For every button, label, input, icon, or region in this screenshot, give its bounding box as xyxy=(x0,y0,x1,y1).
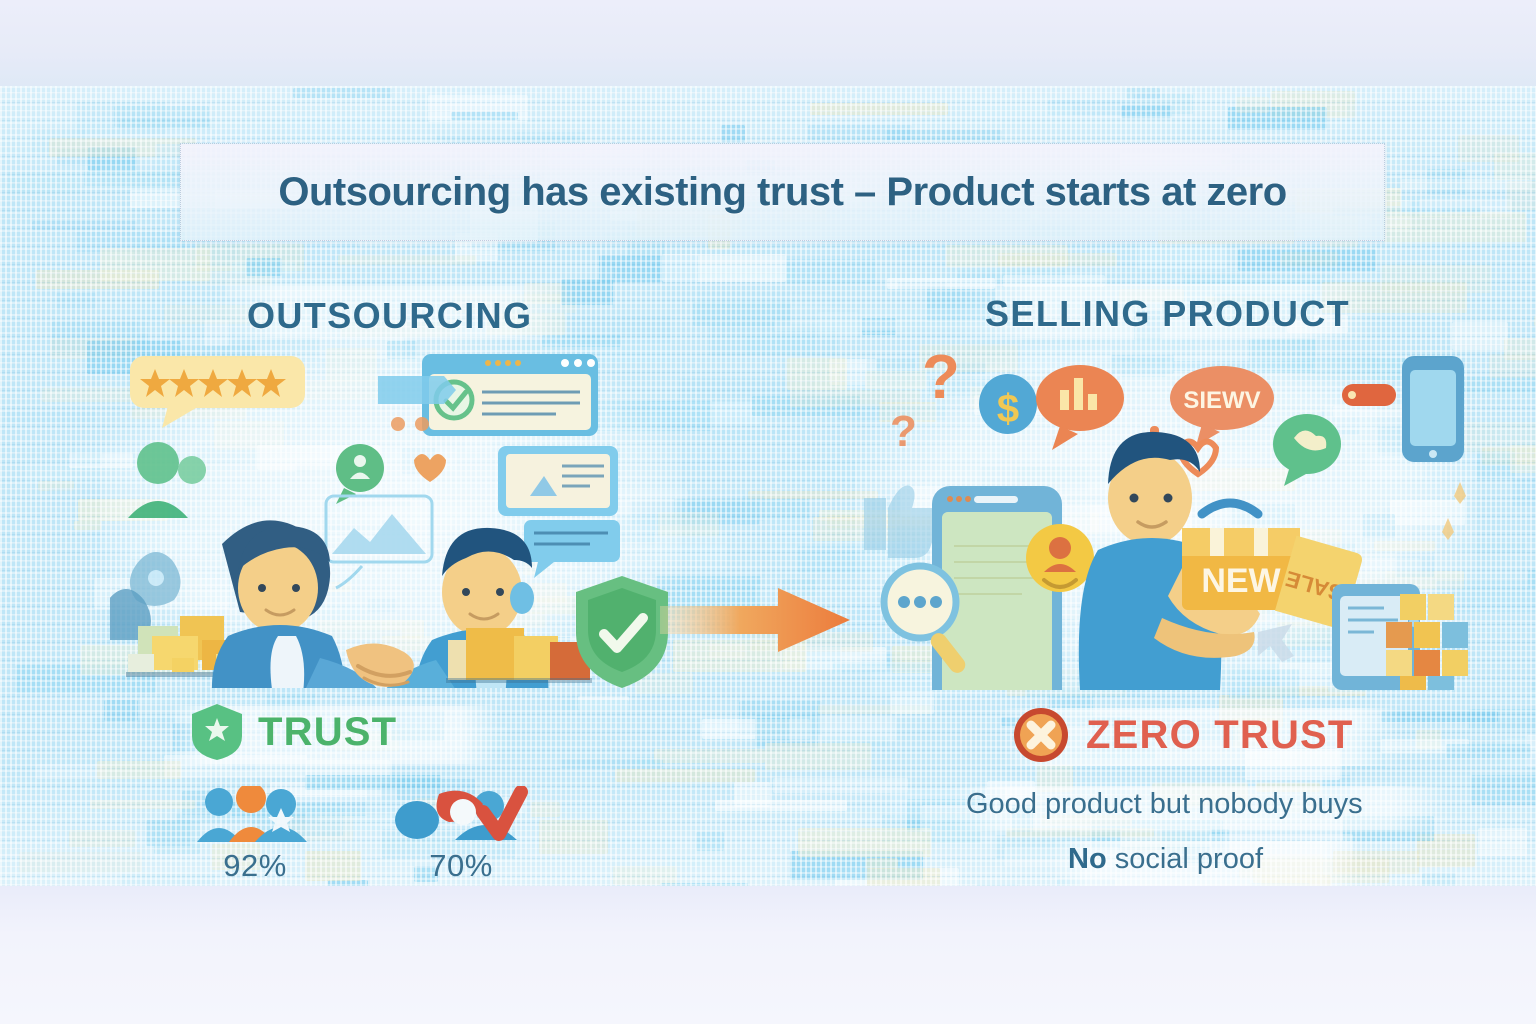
stat-item: 70% xyxy=(391,786,531,884)
gift-boxes-right xyxy=(446,628,592,683)
no-social-proof-text: No social proof xyxy=(1068,843,1263,876)
trust-label: TRUST xyxy=(258,710,397,755)
stat-value: 92% xyxy=(185,848,325,884)
chart-speech-bubble xyxy=(1036,365,1124,450)
column-header-outsourcing: OUTSOURCING xyxy=(247,295,532,337)
sparkle-icons xyxy=(1442,482,1466,540)
trust-block: TRUST xyxy=(190,702,397,762)
svg-text:?: ? xyxy=(890,407,917,456)
chart-bubble xyxy=(326,496,432,588)
question-mark-icons: ? ? xyxy=(890,346,960,456)
review-bubble-label: SIEWV xyxy=(1183,387,1260,414)
bottom-margin-band xyxy=(0,886,1536,1024)
page-title: Outsourcing has existing trust – Product… xyxy=(278,170,1286,215)
no-social-proof-rest: social proof xyxy=(1107,843,1263,875)
stat-value: 70% xyxy=(391,848,531,884)
zero-trust-block: ZERO TRUST xyxy=(1012,706,1354,764)
x-circle-icon xyxy=(1012,706,1070,764)
zero-trust-label: ZERO TRUST xyxy=(1086,713,1354,758)
shield-check-icon xyxy=(190,702,244,762)
title-banner: Outsourcing has existing trust – Product… xyxy=(180,143,1385,241)
people-group-icon xyxy=(185,786,325,844)
column-header-selling-product: SELLING PRODUCT xyxy=(985,293,1350,335)
no-social-proof-strong: No xyxy=(1068,843,1107,875)
infographic-stage: ? ? $ SIEWV xyxy=(0,0,1536,1024)
green-avatar-group xyxy=(128,442,206,518)
top-margin-band xyxy=(0,0,1536,86)
trust-stats: 92% 70% xyxy=(185,786,531,884)
no-buyers-text: Good product but nobody buys xyxy=(966,788,1363,821)
tag-icon xyxy=(1342,384,1396,406)
stat-item: 92% xyxy=(185,786,325,884)
handshake-illustration xyxy=(110,348,680,688)
people-check-icon xyxy=(391,786,531,844)
review-speech-bubble: SIEWV xyxy=(1170,366,1274,446)
heart-icon xyxy=(414,454,446,482)
svg-text:$: $ xyxy=(997,387,1019,431)
thumbs-up-icon xyxy=(864,485,941,558)
comment-bubble-green xyxy=(1273,414,1341,486)
profile-card-panel xyxy=(498,446,618,516)
cursor-arrow xyxy=(1258,624,1294,662)
svg-text:?: ? xyxy=(922,346,960,412)
user-smiley-icon xyxy=(1026,524,1094,592)
dollar-coin-icon: $ xyxy=(979,374,1037,434)
chat-bubble-small xyxy=(524,520,620,578)
product-box-label: NEW xyxy=(1201,562,1281,600)
selling-product-illustration: ? ? $ SIEWV xyxy=(862,346,1470,690)
flow-arrow-right xyxy=(660,584,850,656)
tablet-device xyxy=(1402,356,1464,462)
five-star-review-bubble xyxy=(130,356,305,428)
